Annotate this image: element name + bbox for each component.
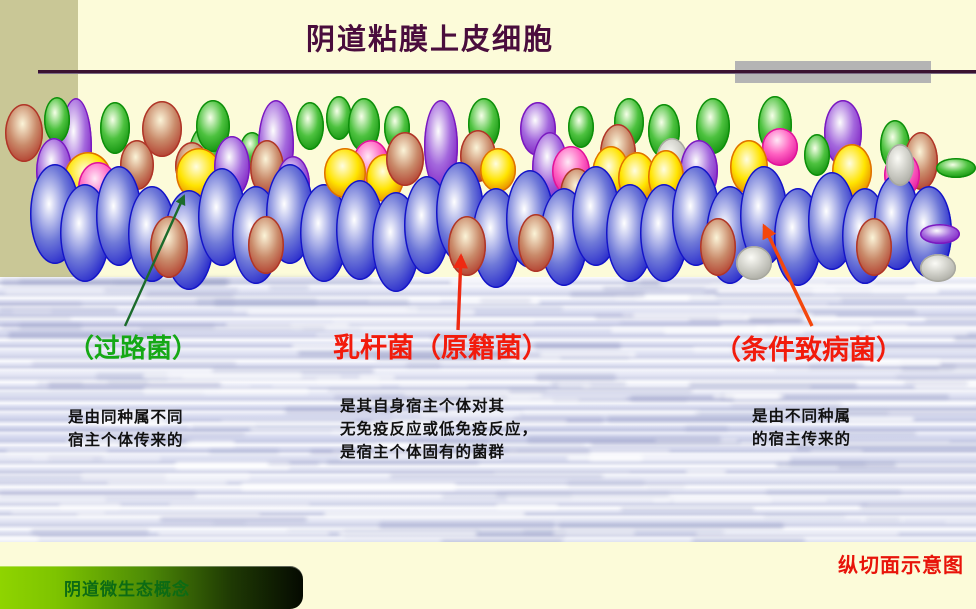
water-streak bbox=[896, 375, 976, 379]
water-streak bbox=[589, 455, 791, 461]
water-streak bbox=[685, 426, 729, 431]
epithelial-cell-gray bbox=[736, 246, 772, 280]
water-streak bbox=[860, 504, 976, 509]
epithelial-cell-green bbox=[44, 97, 70, 143]
label-transient-flora: （过路菌） bbox=[68, 328, 198, 365]
water-streak bbox=[925, 318, 976, 322]
water-streak bbox=[160, 517, 307, 522]
water-streak bbox=[192, 426, 362, 429]
epithelial-cell-orange bbox=[448, 216, 486, 276]
description-line: 的宿主传来的 bbox=[752, 427, 851, 450]
water-streak bbox=[81, 473, 250, 480]
water-streak bbox=[509, 389, 691, 394]
water-streak bbox=[379, 522, 555, 529]
epithelial-cell-yellow bbox=[480, 148, 516, 192]
epithelial-cell-gray bbox=[886, 144, 914, 186]
water-streak bbox=[182, 375, 341, 380]
water-streak bbox=[904, 381, 968, 386]
label-conditional-pathogen: （条件致病菌） bbox=[714, 328, 903, 367]
description-line: 是由不同种属 bbox=[752, 404, 851, 427]
water-streak bbox=[838, 466, 976, 470]
water-streak bbox=[158, 532, 329, 535]
water-streak bbox=[494, 472, 630, 475]
water-streak bbox=[837, 403, 975, 405]
epithelial-cell-green bbox=[568, 106, 594, 148]
water-streak bbox=[621, 508, 754, 511]
water-streak bbox=[209, 449, 279, 454]
water-streak bbox=[847, 417, 915, 422]
water-streak bbox=[186, 441, 236, 447]
water-streak bbox=[390, 474, 603, 478]
water-streak bbox=[945, 520, 976, 523]
description-lactobacillus: 是其自身宿主个体对其 无免疫反应或低免疫反应， 是宿主个体固有的菌群 bbox=[340, 394, 538, 463]
epithelial-cell-orange bbox=[856, 218, 892, 276]
page-title: 阴道粘膜上皮细胞 bbox=[0, 16, 860, 58]
epithelial-cell-orange bbox=[248, 216, 284, 274]
epithelial-cell-orange bbox=[5, 104, 43, 162]
water-streak bbox=[523, 530, 724, 535]
water-streak bbox=[0, 317, 71, 320]
epithelial-cell-orange bbox=[700, 218, 736, 276]
water-streak bbox=[143, 388, 309, 394]
description-line: 是其自身宿主个体对其 bbox=[340, 394, 538, 417]
water-streak bbox=[713, 394, 783, 398]
water-streak bbox=[496, 504, 557, 509]
epithelial-cell-orange bbox=[518, 214, 554, 272]
water-streak bbox=[567, 480, 645, 487]
water-streak bbox=[339, 531, 477, 536]
water-streak bbox=[59, 503, 122, 509]
water-streak bbox=[399, 383, 468, 386]
water-streak bbox=[689, 383, 857, 388]
water-streak bbox=[31, 529, 149, 535]
water-streak bbox=[527, 436, 721, 443]
water-streak bbox=[107, 480, 227, 485]
water-streak bbox=[523, 411, 700, 414]
label-lactobacillus-resident-flora: 乳杆菌（原籍菌） bbox=[333, 326, 549, 365]
epithelial-cell-cluster bbox=[0, 96, 976, 311]
water-streak bbox=[0, 497, 106, 502]
epithelial-cell-green bbox=[804, 134, 830, 176]
water-streak bbox=[686, 470, 726, 474]
water-streak bbox=[221, 420, 356, 422]
section-tab-label: 阴道微生态概念 bbox=[64, 575, 190, 600]
description-line: 宿主个体传来的 bbox=[68, 428, 184, 451]
water-streak bbox=[764, 515, 846, 518]
water-streak bbox=[766, 490, 901, 494]
description-conditional-pathogen: 是由不同种属 的宿主传来的 bbox=[752, 404, 851, 450]
epithelial-cell-purple bbox=[920, 224, 960, 244]
water-streak bbox=[646, 485, 685, 488]
water-streak bbox=[324, 511, 525, 517]
epithelial-cell-orange bbox=[150, 216, 188, 278]
description-transient-flora: 是由同种属不同 宿主个体传来的 bbox=[68, 405, 184, 451]
water-streak bbox=[902, 368, 976, 371]
description-line: 无免疫反应或低免疫反应， bbox=[340, 417, 538, 440]
water-streak bbox=[789, 462, 865, 465]
water-streak bbox=[633, 313, 812, 318]
footer-caption: 纵切面示意图 bbox=[838, 549, 964, 578]
water-streak bbox=[108, 381, 148, 384]
description-line: 是宿主个体固有的菌群 bbox=[340, 440, 538, 463]
water-streak bbox=[607, 416, 763, 422]
water-streak bbox=[860, 518, 905, 522]
slide-canvas: 阴道粘膜上皮细胞 （过路菌） 是由同种属不同 宿主个体传来的 乳杆菌（原籍菌） … bbox=[0, 0, 976, 609]
water-streak bbox=[241, 483, 456, 490]
epithelial-cell-gray bbox=[920, 254, 956, 282]
water-streak bbox=[696, 531, 898, 536]
water-streak bbox=[815, 318, 874, 323]
water-streak bbox=[0, 536, 39, 542]
epithelial-cell-green bbox=[296, 102, 324, 150]
water-streak bbox=[536, 374, 616, 381]
water-streak bbox=[558, 523, 784, 529]
water-streak bbox=[496, 492, 670, 497]
water-streak bbox=[268, 462, 319, 465]
title-divider-line-shadow bbox=[38, 73, 976, 74]
water-streak bbox=[272, 384, 382, 387]
epithelial-cell-green bbox=[936, 158, 976, 178]
water-streak bbox=[169, 502, 310, 507]
water-streak bbox=[954, 335, 976, 341]
water-streak bbox=[32, 457, 93, 460]
description-line: 是由同种属不同 bbox=[68, 405, 184, 428]
water-streak bbox=[558, 382, 592, 388]
water-streak bbox=[673, 497, 772, 502]
